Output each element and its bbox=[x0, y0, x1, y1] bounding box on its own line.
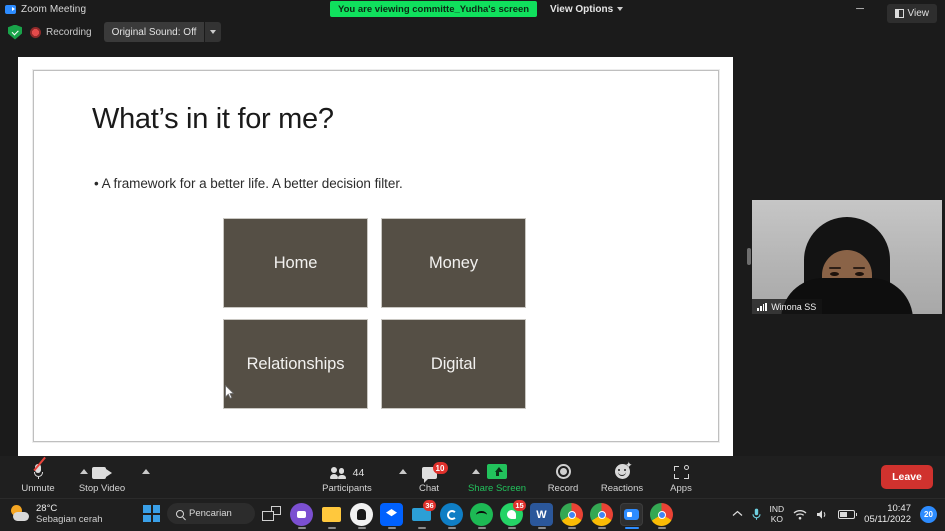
slide-boxes-grid: Home Money Relationships Digital bbox=[224, 219, 526, 408]
window-title: Zoom Meeting bbox=[21, 4, 86, 15]
wifi-icon[interactable] bbox=[793, 509, 807, 520]
viewing-screen-text: You are viewing committe_Yudha's screen bbox=[338, 4, 529, 15]
taskbar-center-group: Pencarian bbox=[143, 503, 281, 524]
taskbar-app-chrome-1[interactable] bbox=[560, 503, 583, 526]
microphone-icon[interactable] bbox=[752, 508, 761, 521]
control-label-record: Record bbox=[548, 483, 579, 494]
control-label-share-screen: Share Screen bbox=[468, 483, 526, 494]
taskbar-app-chrome-3[interactable] bbox=[650, 503, 673, 526]
layout-view-icon bbox=[895, 9, 904, 18]
participant-video-tile[interactable]: Winona SS bbox=[752, 200, 942, 314]
taskbar-app-microsoft-edge[interactable] bbox=[440, 503, 463, 526]
weather-temperature: 28°C bbox=[36, 503, 103, 514]
taskbar-app-mail[interactable]: 36 bbox=[410, 503, 433, 526]
zoom-app-icon bbox=[5, 5, 16, 14]
slide-box-relationships: Relationships bbox=[224, 320, 367, 408]
microphone-muted-icon bbox=[34, 464, 43, 479]
video-panel-drag-handle[interactable] bbox=[747, 248, 751, 265]
participants-count: 44 bbox=[353, 467, 365, 479]
control-apps[interactable]: Apps bbox=[649, 459, 713, 494]
meeting-controls-bar: Unmute Stop Video 44 Participants 10 bbox=[0, 456, 945, 498]
slide-bullet-text: • A framework for a better life. A bette… bbox=[94, 176, 403, 191]
control-share-screen[interactable]: Share Screen bbox=[465, 459, 529, 494]
slide-boxes-row: Relationships Digital bbox=[224, 320, 526, 408]
participants-icon-wrap: 44 bbox=[330, 459, 365, 479]
weather-condition: Sebagian cerah bbox=[36, 514, 103, 525]
clock-time: 10:47 bbox=[864, 503, 911, 514]
slide-box-money: Money bbox=[382, 219, 525, 307]
chevron-down-icon bbox=[617, 7, 623, 11]
view-options-label: View Options bbox=[550, 4, 613, 15]
recording-label: Recording bbox=[46, 27, 92, 38]
eyebrow-right bbox=[853, 267, 865, 269]
taskbar-app-microsoft-word[interactable]: W bbox=[530, 503, 553, 526]
participant-name-badge: Winona SS bbox=[752, 299, 822, 314]
viewing-screen-banner: You are viewing committe_Yudha's screen bbox=[330, 1, 537, 17]
mail-badge: 36 bbox=[423, 500, 436, 511]
taskbar-app-brave-browser[interactable] bbox=[350, 503, 373, 526]
taskbar-weather-widget[interactable]: 28°C Sebagian cerah bbox=[10, 503, 103, 525]
reactions-icon-wrap: ✦ bbox=[615, 459, 630, 479]
chevron-down-icon bbox=[210, 30, 216, 34]
apps-icon-wrap bbox=[674, 459, 689, 479]
language-line-1: IND bbox=[770, 504, 785, 514]
share-screen-icon bbox=[487, 464, 507, 479]
weather-text: 28°C Sebagian cerah bbox=[36, 503, 103, 525]
eye-right bbox=[855, 272, 864, 276]
control-label-participants: Participants bbox=[322, 483, 372, 494]
original-sound-dropdown[interactable] bbox=[205, 22, 221, 42]
control-label-unmute: Unmute bbox=[21, 483, 54, 494]
eye-left bbox=[830, 272, 839, 276]
taskbar-app-zoom-active[interactable] bbox=[620, 503, 643, 526]
share-screen-icon-wrap bbox=[487, 459, 507, 479]
taskbar-app-zoom-purple[interactable] bbox=[290, 503, 313, 526]
language-line-2: KO bbox=[770, 514, 785, 524]
control-stop-video[interactable]: Stop Video bbox=[70, 459, 134, 494]
taskbar-app-dropbox[interactable] bbox=[380, 503, 403, 526]
people-icon bbox=[330, 467, 349, 479]
search-icon bbox=[176, 510, 184, 518]
search-placeholder: Pencarian bbox=[189, 508, 232, 519]
battery-icon[interactable] bbox=[838, 510, 855, 519]
presentation-slide: What’s in it for me? • A framework for a… bbox=[33, 70, 719, 442]
sun-cloud-icon bbox=[10, 504, 30, 524]
leave-meeting-button[interactable]: Leave bbox=[881, 465, 933, 489]
zoom-meeting-window: Zoom Meeting You are viewing committe_Yu… bbox=[0, 0, 945, 531]
smiley-reactions-icon: ✦ bbox=[615, 464, 630, 479]
video-options-caret-icon[interactable] bbox=[142, 469, 150, 474]
slide-boxes-row: Home Money bbox=[224, 219, 526, 307]
view-button-label: View bbox=[908, 8, 930, 19]
notification-badge[interactable]: 20 bbox=[920, 506, 937, 523]
clock-widget[interactable]: 10:47 05/11/2022 bbox=[864, 503, 911, 525]
slide-box-home: Home bbox=[224, 219, 367, 307]
control-unmute[interactable]: Unmute bbox=[6, 459, 70, 494]
taskbar-app-icons: 36 15 W bbox=[290, 503, 673, 526]
taskbar-app-spotify[interactable] bbox=[470, 503, 493, 526]
chat-icon-wrap: 10 bbox=[422, 459, 437, 479]
control-record[interactable]: Record bbox=[531, 459, 595, 494]
participant-name: Winona SS bbox=[771, 302, 816, 312]
record-icon-wrap bbox=[556, 459, 571, 479]
control-label-stop-video: Stop Video bbox=[79, 483, 125, 494]
view-options-button[interactable]: View Options bbox=[543, 1, 630, 17]
windows-logo-icon[interactable] bbox=[143, 505, 160, 522]
chat-unread-badge: 10 bbox=[433, 462, 448, 474]
security-shield-icon[interactable] bbox=[8, 25, 22, 40]
taskbar-app-chrome-2[interactable] bbox=[590, 503, 613, 526]
recording-indicator-icon bbox=[30, 27, 41, 38]
stop-video-icon-wrap bbox=[92, 459, 112, 479]
control-label-reactions: Reactions bbox=[601, 483, 643, 494]
taskbar-app-whatsapp[interactable]: 15 bbox=[500, 503, 523, 526]
speaker-icon[interactable] bbox=[816, 509, 829, 520]
eyebrow-left bbox=[829, 267, 841, 269]
signal-bars-icon bbox=[757, 303, 767, 311]
search-input[interactable]: Pencarian bbox=[167, 503, 255, 524]
system-tray: IND KO 10:47 05/11/2022 bbox=[732, 503, 937, 525]
meeting-sub-toolbar: Recording Original Sound: Off bbox=[0, 18, 945, 46]
control-label-apps: Apps bbox=[670, 483, 692, 494]
video-camera-icon bbox=[92, 467, 112, 479]
slide-box-digital: Digital bbox=[382, 320, 525, 408]
control-label-chat: Chat bbox=[419, 483, 439, 494]
minimize-button[interactable]: ─ bbox=[843, 0, 877, 18]
slide-title: What’s in it for me? bbox=[92, 103, 334, 136]
chevron-up-icon[interactable] bbox=[732, 510, 743, 518]
shared-screen-area[interactable]: What’s in it for me? • A framework for a… bbox=[18, 57, 733, 456]
record-circle-icon bbox=[556, 464, 571, 479]
task-view-icon[interactable] bbox=[262, 506, 281, 521]
view-layout-button[interactable]: View bbox=[887, 4, 938, 23]
control-reactions[interactable]: ✦ Reactions bbox=[590, 459, 654, 494]
control-participants[interactable]: 44 Participants bbox=[315, 459, 379, 494]
control-chat[interactable]: 10 Chat bbox=[397, 459, 461, 494]
windows-taskbar: 28°C Sebagian cerah Pencarian bbox=[0, 498, 945, 531]
chat-bubble-icon: 10 bbox=[422, 467, 437, 479]
original-sound-button[interactable]: Original Sound: Off bbox=[104, 22, 205, 42]
language-indicator[interactable]: IND KO bbox=[770, 504, 785, 524]
apps-grid-icon bbox=[674, 465, 689, 479]
unmute-icon-wrap bbox=[34, 459, 43, 479]
taskbar-app-file-explorer[interactable] bbox=[320, 503, 343, 526]
whatsapp-badge: 15 bbox=[513, 500, 526, 511]
word-letter: W bbox=[536, 509, 546, 521]
clock-date: 05/11/2022 bbox=[864, 514, 911, 525]
